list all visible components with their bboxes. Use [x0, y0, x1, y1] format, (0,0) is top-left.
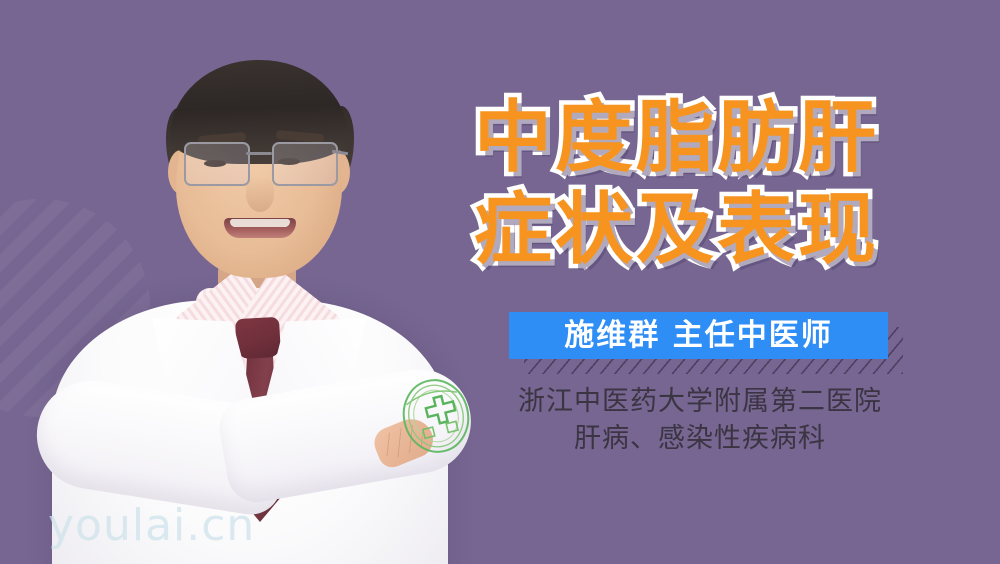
teeth — [230, 219, 290, 227]
poster-canvas: 中度脂肪肝 症状及表现 施维群 主任中医师 浙江中医药大学附属第二医院 肝病、感… — [0, 0, 1000, 564]
necktie-knot — [235, 317, 281, 359]
eyeglass-bridge — [246, 152, 272, 155]
speaker-name-title: 施维群 主任中医师 — [564, 321, 832, 351]
affiliation-hospital: 浙江中医药大学附属第二医院 — [474, 383, 926, 420]
title-line-1: 中度脂肪肝 — [474, 92, 944, 184]
nose — [246, 176, 274, 212]
affiliation-block: 浙江中医药大学附属第二医院 肝病、感染性疾病科 — [474, 383, 926, 457]
title-line-2: 症状及表现 — [474, 184, 944, 276]
eyeglass-lens-right — [272, 142, 338, 186]
doctor-portrait — [0, 0, 500, 564]
affiliation-department: 肝病、感染性疾病科 — [474, 420, 926, 457]
eyeglass-lens-left — [184, 142, 250, 186]
speaker-badge: 施维群 主任中医师 — [509, 312, 888, 359]
main-title: 中度脂肪肝 症状及表现 — [474, 92, 944, 276]
